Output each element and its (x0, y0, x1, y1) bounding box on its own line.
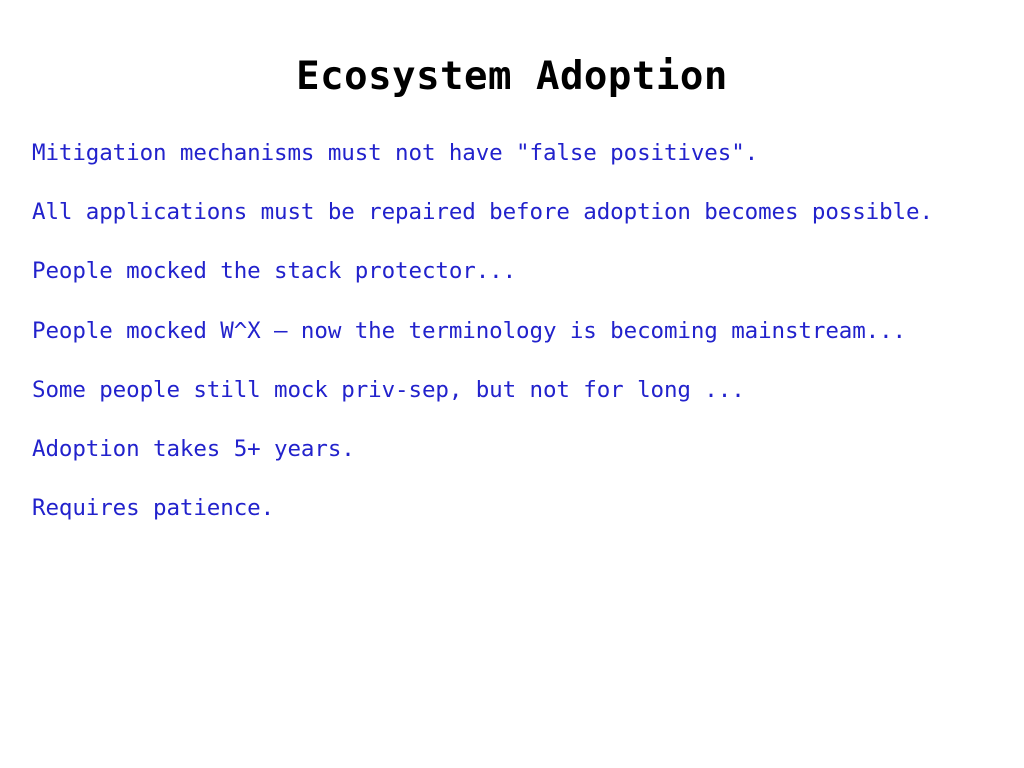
list-item: All applications must be repaired before… (32, 183, 992, 242)
page-title: Ecosystem Adoption (0, 54, 1024, 100)
list-item: Requires patience. (32, 479, 992, 538)
slide-body-list: Mitigation mechanisms must not have "fal… (32, 124, 992, 538)
list-item: People mocked W^X — now the terminology … (32, 302, 992, 361)
list-item: Some people still mock priv-sep, but not… (32, 361, 992, 420)
presentation-slide: Ecosystem Adoption Mitigation mechanisms… (0, 0, 1024, 768)
list-item: People mocked the stack protector... (32, 242, 992, 301)
list-item: Adoption takes 5+ years. (32, 420, 992, 479)
list-item: Mitigation mechanisms must not have "fal… (32, 124, 992, 183)
